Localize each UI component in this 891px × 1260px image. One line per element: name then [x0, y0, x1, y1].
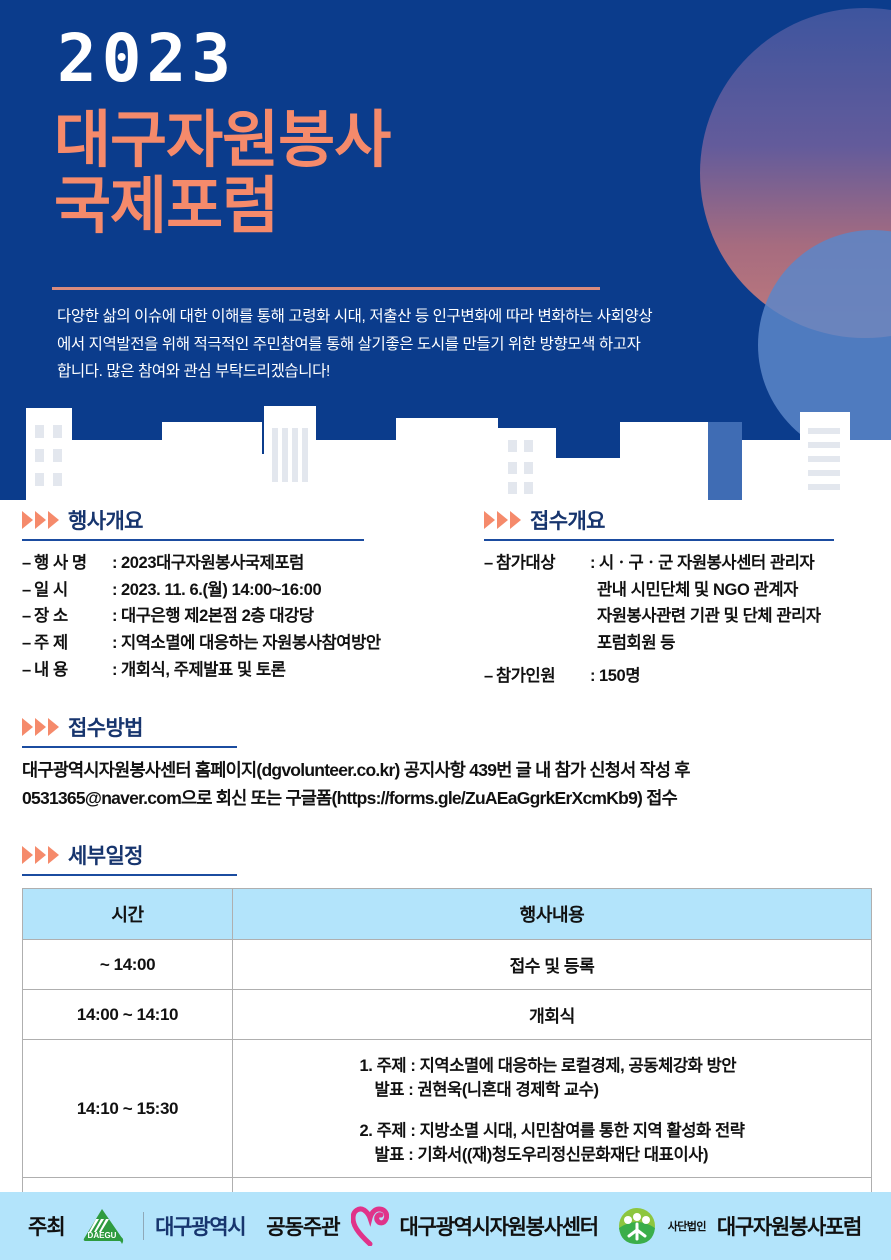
volunteer-center-logo: [351, 1206, 389, 1246]
partner-prefix: 사단법인: [668, 1218, 706, 1234]
event-overview-section: 행사개요 – 행 사 명 : 2023대구자원봉사국제포럼 – 일 시 : 20…: [22, 505, 452, 684]
session-list: 1. 주제 : 지역소멸에 대응하는 로컬경제, 공동체강화 방안 발표 : 권…: [359, 1052, 744, 1165]
schedule-heading: 세부일정: [22, 840, 872, 870]
row-key: 참가대상: [496, 550, 586, 577]
cohost-name: 대구광역시자원봉사센터: [400, 1211, 598, 1241]
chevrons-icon: [484, 511, 521, 529]
row-value: 2023대구자원봉사국제포럼: [121, 550, 452, 577]
column-header-time: 시간: [23, 889, 233, 940]
table-row: 14:10 ~ 15:30 1. 주제 : 지역소멸에 대응하는 로컬경제, 공…: [23, 1040, 872, 1178]
poster-title-line2: 국제포럼: [54, 174, 390, 240]
event-overview-title: 행사개요: [68, 505, 143, 535]
session-topic: 1. 주제 : 지역소멸에 대응하는 로컬경제, 공동체강화 방안: [359, 1052, 744, 1076]
list-dash: –: [22, 550, 34, 577]
schedule-table: 시간 행사내용 ~ 14:00 접수 및 등록 14:00 ~ 14:10 개회…: [22, 888, 872, 1228]
row-colon: :: [108, 630, 121, 657]
apply-method-line1: 대구광역시자원봉사센터 홈페이지(dgvolunteer.co.kr) 공지사항…: [22, 756, 872, 784]
title-divider: [52, 287, 600, 290]
daegu-city-logo: DAEGU: [76, 1205, 132, 1247]
apply-method-heading: 접수방법: [22, 712, 872, 742]
event-overview-row: – 장 소 : 대구은행 제2본점 2층 대강당: [22, 603, 452, 630]
schedule-title: 세부일정: [68, 840, 143, 870]
daegu-mountain-icon: DAEGU: [76, 1205, 132, 1247]
table-header-row: 시간 행사내용: [23, 889, 872, 940]
registration-overview-rule: [484, 539, 834, 541]
row-colon: :: [108, 657, 121, 684]
session-speaker: 발표 : 권현욱(니혼대 경제학 교수): [359, 1076, 744, 1100]
list-dash: –: [22, 630, 34, 657]
session-item: 2. 주제 : 지방소멸 시대, 시민참여를 통한 지역 활성화 전략 발표 :…: [359, 1117, 744, 1165]
row-key: 장 소: [34, 603, 108, 630]
footer-bar: 주최 DAEGU 대구광역시 공동주관 대구광역시자원봉사센터: [0, 1192, 891, 1260]
row-value: 대구은행 제2본점 2층 대강당: [121, 603, 452, 630]
cohost-label: 공동주관: [266, 1211, 339, 1241]
event-overview-row: – 일 시 : 2023. 11. 6.(월) 14:00~16:00: [22, 577, 452, 604]
row-colon: :: [108, 577, 121, 604]
row-colon: :: [108, 603, 121, 630]
cell-time: 14:10 ~ 15:30: [23, 1040, 233, 1178]
apply-method-title: 접수방법: [68, 712, 143, 742]
event-overview-row: – 행 사 명 : 2023대구자원봉사국제포럼: [22, 550, 452, 577]
apply-method-rule: [22, 746, 237, 748]
schedule-rule: [22, 874, 237, 876]
event-overview-rule: [22, 539, 364, 541]
partner-name: 대구자원봉사포럼: [717, 1211, 861, 1241]
registration-overview-title: 접수개요: [530, 505, 605, 535]
svg-text:DAEGU: DAEGU: [87, 1231, 116, 1240]
row-value: 개회식, 주제발표 및 토론: [121, 657, 452, 684]
row-colon: :: [586, 663, 599, 690]
apply-method-body: 대구광역시자원봉사센터 홈페이지(dgvolunteer.co.kr) 공지사항…: [22, 756, 872, 813]
poster-year: 2023: [57, 26, 236, 92]
heart-icon: [351, 1206, 389, 1246]
cell-content: 접수 및 등록: [233, 940, 872, 990]
event-overview-row: – 내 용 : 개회식, 주제발표 및 토론: [22, 657, 452, 684]
cell-content: 개회식: [233, 990, 872, 1040]
table-row: ~ 14:00 접수 및 등록: [23, 940, 872, 990]
list-dash: –: [22, 657, 34, 684]
row-value: 지역소멸에 대응하는 자원봉사참여방안: [121, 630, 452, 657]
poster-root: 2023 대구자원봉사 국제포럼 다양한 삶의 이슈에 대한 이해를 통해 고령…: [0, 0, 891, 1260]
event-overview-row: – 주 제 : 지역소멸에 대응하는 자원봉사참여방안: [22, 630, 452, 657]
apply-method-line2: 0531365@naver.com으로 회신 또는 구글폼(https://fo…: [22, 784, 872, 812]
poster-title: 대구자원봉사 국제포럼: [54, 108, 390, 239]
apply-method-section: 접수방법 대구광역시자원봉사센터 홈페이지(dgvolunteer.co.kr)…: [22, 712, 872, 813]
city-skyline-graphic: [0, 390, 891, 500]
session-speaker: 발표 : 기화서((재)청도우리정신문화재단 대표이사): [359, 1141, 744, 1165]
list-dash: –: [22, 603, 34, 630]
registration-overview-list: – 참가대상 : 시ㆍ구ㆍ군 자원봉사센터 관리자 관내 시민단체 및 NGO …: [484, 550, 876, 690]
chevrons-icon: [22, 846, 59, 864]
schedule-section: 세부일정 시간 행사내용 ~ 14:00 접수 및 등록 14:00 ~ 14:…: [22, 840, 872, 1228]
hero-banner: 2023 대구자원봉사 국제포럼 다양한 삶의 이슈에 대한 이해를 통해 고령…: [0, 0, 891, 500]
registration-count-row: – 참가인원 : 150명: [484, 663, 876, 690]
list-dash: –: [22, 577, 34, 604]
row-key: 주 제: [34, 630, 108, 657]
registration-target-line: 포럼회원 등: [484, 630, 876, 657]
row-value: 2023. 11. 6.(월) 14:00~16:00: [121, 577, 452, 604]
footer-separator: [143, 1212, 145, 1240]
cell-content-sessions: 1. 주제 : 지역소멸에 대응하는 로컬경제, 공동체강화 방안 발표 : 권…: [233, 1040, 872, 1178]
registration-target-row: – 참가대상 : 시ㆍ구ㆍ군 자원봉사센터 관리자: [484, 550, 876, 577]
host-name: 대구광역시: [155, 1211, 245, 1241]
registration-overview-heading: 접수개요: [484, 505, 876, 535]
row-key: 행 사 명: [34, 550, 108, 577]
cell-time: ~ 14:00: [23, 940, 233, 990]
row-colon: :: [586, 550, 599, 577]
people-circle-icon: [617, 1206, 657, 1246]
row-key: 참가인원: [496, 663, 586, 690]
row-value: 시ㆍ구ㆍ군 자원봉사센터 관리자: [599, 550, 876, 577]
poster-lead-text: 다양한 삶의 이슈에 대한 이해를 통해 고령화 시대, 저출산 등 인구변화에…: [57, 303, 657, 386]
poster-title-line1: 대구자원봉사: [54, 108, 390, 174]
table-row: 14:00 ~ 14:10 개회식: [23, 990, 872, 1040]
row-value: 150명: [599, 663, 876, 690]
row-key: 일 시: [34, 577, 108, 604]
session-item: 1. 주제 : 지역소멸에 대응하는 로컬경제, 공동체강화 방안 발표 : 권…: [359, 1052, 744, 1100]
volunteer-forum-logo: [617, 1206, 657, 1246]
list-dash: –: [484, 663, 496, 690]
row-colon: :: [108, 550, 121, 577]
row-key: 내 용: [34, 657, 108, 684]
cell-time: 14:00 ~ 14:10: [23, 990, 233, 1040]
column-header-content: 행사내용: [233, 889, 872, 940]
host-label: 주최: [28, 1211, 65, 1241]
registration-target-line: 자원봉사관련 기관 및 단체 관리자: [484, 603, 876, 630]
event-overview-heading: 행사개요: [22, 505, 452, 535]
list-dash: –: [484, 550, 496, 577]
registration-target-line: 관내 시민단체 및 NGO 관계자: [484, 577, 876, 604]
event-overview-list: – 행 사 명 : 2023대구자원봉사국제포럼 – 일 시 : 2023. 1…: [22, 550, 452, 684]
chevrons-icon: [22, 718, 59, 736]
registration-overview-section: 접수개요 – 참가대상 : 시ㆍ구ㆍ군 자원봉사센터 관리자 관내 시민단체 및…: [484, 505, 876, 690]
session-topic: 2. 주제 : 지방소멸 시대, 시민참여를 통한 지역 활성화 전략: [359, 1117, 744, 1141]
chevrons-icon: [22, 511, 59, 529]
